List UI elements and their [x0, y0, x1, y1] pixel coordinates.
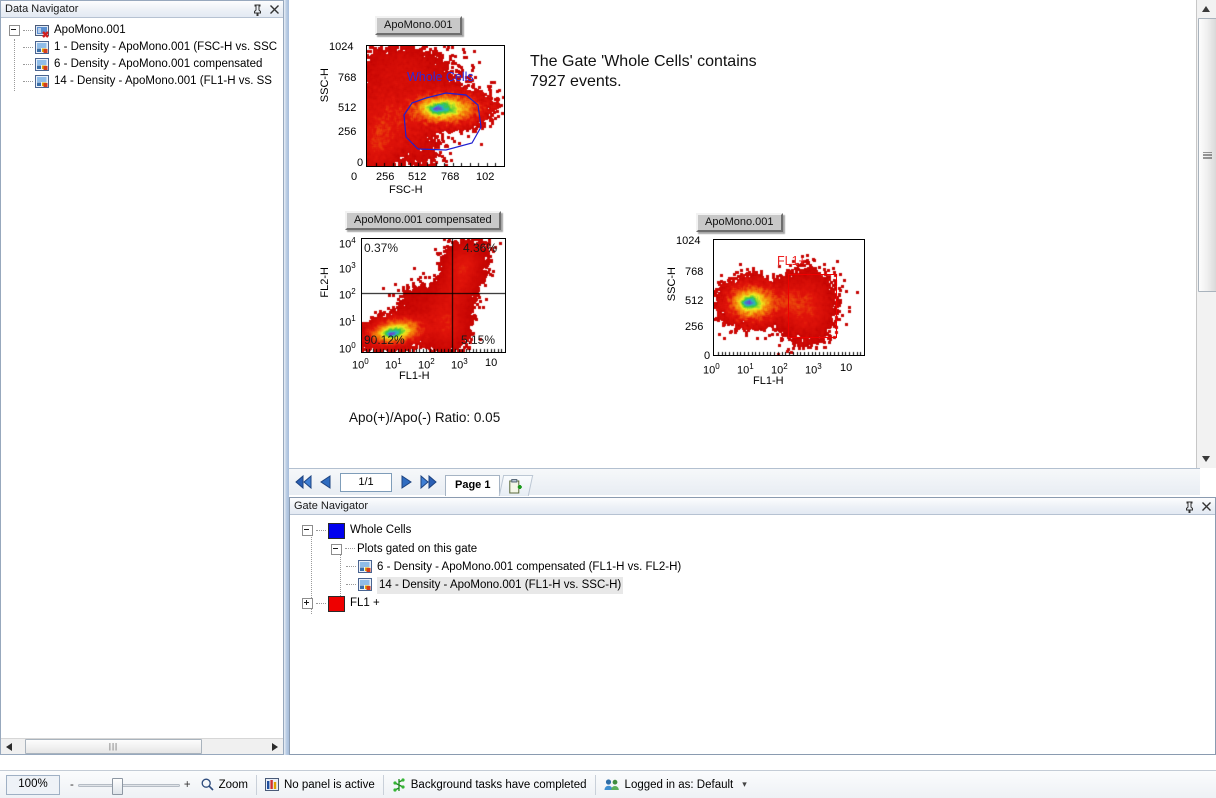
- new-page-tab[interactable]: [499, 475, 533, 496]
- tree-item-label: 6 - Density - ApoMono.001 compensated: [54, 56, 262, 73]
- pin-icon[interactable]: [252, 4, 263, 16]
- gate-color-swatch: [328, 523, 345, 539]
- scroll-right-arrow[interactable]: [267, 739, 283, 754]
- plot-icon: [358, 560, 373, 574]
- y-axis-label: SSC-H: [319, 68, 331, 102]
- x-tick-512: 512: [408, 171, 426, 183]
- scroll-left-arrow[interactable]: [1, 739, 17, 754]
- y-tick-512: 512: [685, 295, 703, 307]
- plot-icon: [35, 75, 50, 89]
- gate-node-plot-14[interactable]: 14 - Density - ApoMono.001 (FL1-H vs. SS…: [298, 576, 1215, 594]
- zoom-out-label[interactable]: -: [70, 779, 74, 791]
- tab-page-1[interactable]: Page 1: [445, 475, 500, 496]
- apo-ratio-text[interactable]: Apo(+)/Apo(-) Ratio: 0.05: [349, 410, 500, 425]
- y-tick-768: 768: [338, 72, 356, 84]
- tree-connector: [23, 30, 33, 32]
- gate-node-plots-gated[interactable]: Plots gated on this gate: [298, 540, 1215, 558]
- status-separator: [595, 775, 596, 795]
- next-page-button[interactable]: [395, 471, 417, 493]
- tree-connector: [23, 47, 33, 49]
- report-vscrollbar[interactable]: [1196, 0, 1216, 468]
- gate-node-plot-6[interactable]: 6 - Density - ApoMono.001 compensated (F…: [298, 558, 1215, 576]
- data-navigator-titlebar: Data Navigator: [1, 1, 283, 18]
- tree-connector: [316, 603, 326, 605]
- panel-status-text: No panel is active: [284, 779, 375, 791]
- gate-node-label: FL1 +: [350, 595, 380, 612]
- data-navigator-panel: Data Navigator ApoMono.001: [0, 0, 284, 755]
- expander-icon[interactable]: [9, 25, 20, 36]
- x-tick-1e4: 10: [840, 362, 852, 374]
- x-axis-label: FL1-H: [399, 370, 430, 382]
- y-tick-1e4: 104: [339, 236, 356, 251]
- tree-item-plot-14[interactable]: 14 - Density - ApoMono.001 (FL1-H vs. SS: [1, 73, 283, 90]
- data-navigator-hscrollbar[interactable]: |||: [1, 738, 283, 754]
- x-tick-0: 0: [351, 171, 357, 183]
- annotation-line-1: The Gate 'Whole Cells' contains: [530, 52, 860, 72]
- tree-connector: [346, 566, 356, 568]
- y-tick-1e3: 103: [339, 261, 356, 276]
- expander-icon[interactable]: [302, 598, 313, 609]
- gate-navigator-title: Gate Navigator: [294, 500, 368, 512]
- y-tick-1e1: 101: [339, 314, 356, 329]
- scroll-down-arrow[interactable]: [1197, 450, 1215, 467]
- tree-item-plot-6[interactable]: 6 - Density - ApoMono.001 compensated: [1, 56, 283, 73]
- new-document-icon: [509, 478, 523, 493]
- login-status-text: Logged in as: Default: [625, 779, 734, 791]
- scroll-grip-icon: [1203, 152, 1212, 159]
- tree-root-item[interactable]: ApoMono.001: [1, 22, 283, 39]
- last-page-button[interactable]: [417, 471, 439, 493]
- zoom-status[interactable]: Zoom: [201, 778, 248, 791]
- x-tick-1e0: 100: [352, 357, 369, 372]
- task-status-text: Background tasks have completed: [411, 779, 587, 791]
- x-tick-1024: 102: [476, 171, 494, 183]
- pin-icon[interactable]: [1184, 501, 1195, 513]
- gate-navigator-panel: Gate Navigator Whole Cells Plots g: [289, 497, 1216, 755]
- scroll-grip: |||: [109, 743, 118, 751]
- zoom-value[interactable]: 100%: [6, 775, 60, 795]
- y-tick-1024: 1024: [676, 235, 700, 247]
- tree-item-label: 14 - Density - ApoMono.001 (FL1-H vs. SS: [54, 73, 272, 90]
- x-axis-label: FL1-H: [753, 375, 784, 387]
- first-page-button[interactable]: [293, 471, 315, 493]
- tree-connector: [345, 548, 355, 550]
- expander-icon[interactable]: [331, 544, 342, 555]
- x-axis-label: FSC-H: [389, 184, 423, 196]
- y-tick-256: 256: [685, 321, 703, 333]
- zoom-in-label[interactable]: +: [184, 779, 191, 791]
- hscroll-thumb[interactable]: |||: [25, 739, 202, 754]
- zoom-label: Zoom: [219, 779, 248, 791]
- chevron-down-icon[interactable]: ▾: [742, 779, 747, 790]
- fcs-file-icon: [35, 24, 50, 38]
- x-tick-1e4: 10: [485, 357, 497, 369]
- x-tick-1e3: 103: [805, 362, 822, 377]
- quad-stat-lower-right: 5.15%: [461, 333, 495, 347]
- plot-fsc-ssc[interactable]: ApoMono.001 SSC-H 1024 768 512 256 0 Who…: [319, 8, 559, 193]
- tree-connector: [23, 81, 33, 83]
- quad-stat-upper-right: 4.36%: [463, 241, 497, 255]
- tree-connector: [346, 584, 356, 586]
- y-tick-1e0: 100: [339, 341, 356, 356]
- status-bar: 100% - + Zoom No panel is active Backgro…: [0, 770, 1216, 798]
- gate-node-label: Whole Cells: [350, 522, 411, 539]
- report-annotation[interactable]: The Gate 'Whole Cells' contains 7927 eve…: [530, 52, 860, 92]
- y-axis-label: FL2-H: [319, 267, 331, 298]
- tree-root-label: ApoMono.001: [54, 22, 126, 39]
- gate-navigator-titlebar: Gate Navigator: [290, 498, 1215, 515]
- magnifier-icon: [201, 778, 214, 791]
- previous-page-button[interactable]: [315, 471, 337, 493]
- y-tick-0: 0: [704, 350, 710, 362]
- page-navigation-bar[interactable]: 1/1 Page 1: [289, 468, 1200, 495]
- tree-connector: [23, 64, 33, 66]
- plot-title: ApoMono.001 compensated: [345, 211, 501, 230]
- users-icon: [604, 778, 620, 791]
- expander-icon[interactable]: [302, 525, 313, 536]
- plot-fl1-fl2[interactable]: ApoMono.001 compensated FL2-H 104 103 10…: [319, 205, 559, 395]
- status-separator: [256, 775, 257, 795]
- y-tick-1024: 1024: [329, 41, 353, 53]
- quad-stat-lower-left: 90.12%: [364, 333, 405, 347]
- plot-icon: [358, 578, 373, 592]
- annotation-line-2: 7927 events.: [530, 72, 860, 92]
- report-canvas[interactable]: ApoMono.001 SSC-H 1024 768 512 256 0 Who…: [289, 0, 1200, 468]
- gate-label-fl1-plus[interactable]: FL1+: [777, 254, 806, 268]
- panel-icon: [265, 778, 279, 791]
- plot-title: ApoMono.001: [696, 213, 783, 232]
- scroll-up-arrow[interactable]: [1197, 0, 1215, 17]
- plot-icon: [35, 41, 50, 55]
- tree-item-label: 1 - Density - ApoMono.001 (FSC-H vs. SSC: [54, 39, 277, 56]
- gate-node-label: Plots gated on this gate: [357, 541, 477, 558]
- y-tick-256: 256: [338, 126, 356, 138]
- login-status[interactable]: Logged in as: Default ▾: [604, 778, 747, 791]
- close-icon[interactable]: [269, 4, 280, 16]
- plot-fl1-ssc[interactable]: ApoMono.001 SSC-H 1024 768 512 256 0 FL1…: [664, 205, 879, 395]
- x-tick-256: 256: [376, 171, 394, 183]
- y-axis-label: SSC-H: [666, 267, 678, 301]
- data-navigator-tree[interactable]: ApoMono.001 1 - Density - ApoMono.001 (F…: [1, 18, 283, 90]
- y-tick-0: 0: [357, 157, 363, 169]
- plot-title: ApoMono.001: [375, 16, 462, 35]
- gate-color-swatch: [328, 596, 345, 612]
- gate-node-whole-cells[interactable]: Whole Cells: [298, 521, 1215, 540]
- tree-connector: [316, 530, 326, 532]
- gate-node-fl1-plus[interactable]: FL1 +: [298, 594, 1215, 613]
- x-tick-1e0: 100: [703, 362, 720, 377]
- x-tick-1e3: 103: [451, 357, 468, 372]
- gate-node-label: 6 - Density - ApoMono.001 compensated (F…: [377, 559, 681, 576]
- close-icon[interactable]: [1201, 501, 1212, 513]
- panel-status: No panel is active: [265, 778, 375, 791]
- x-tick-1e1: 101: [737, 362, 754, 377]
- tree-item-plot-1[interactable]: 1 - Density - ApoMono.001 (FSC-H vs. SSC: [1, 39, 283, 56]
- gate-node-label: 14 - Density - ApoMono.001 (FL1-H vs. SS…: [377, 577, 623, 594]
- quad-stat-upper-left: 0.37%: [364, 241, 398, 255]
- gate-rectangle-fl1-plus[interactable]: [788, 274, 837, 338]
- zoom-slider-thumb[interactable]: [112, 778, 123, 795]
- zoom-slider[interactable]: [78, 777, 180, 793]
- zoom-slider-track: [78, 784, 180, 787]
- plot-icon: [35, 58, 50, 72]
- x-tick-768: 768: [441, 171, 459, 183]
- y-tick-512: 512: [338, 102, 356, 114]
- status-separator: [383, 775, 384, 795]
- page-counter[interactable]: 1/1: [340, 473, 392, 492]
- tasks-icon: [392, 778, 406, 792]
- task-status: Background tasks have completed: [392, 778, 587, 792]
- vscroll-thumb[interactable]: [1198, 18, 1216, 292]
- gate-polygon-whole-cells[interactable]: [366, 45, 505, 167]
- gate-navigator-tree[interactable]: Whole Cells Plots gated on this gate: [290, 515, 1215, 613]
- data-navigator-title: Data Navigator: [5, 3, 78, 15]
- y-tick-1e2: 102: [339, 287, 356, 302]
- y-tick-768: 768: [685, 266, 703, 278]
